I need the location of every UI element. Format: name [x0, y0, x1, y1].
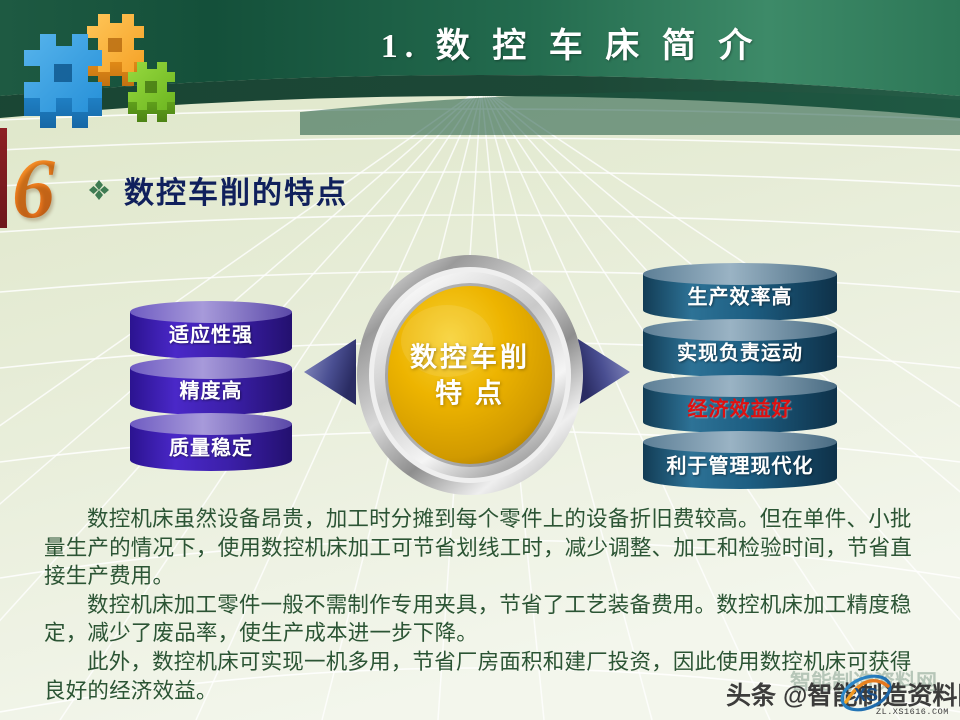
- watermark-url: ZL.XS1616.COM: [876, 707, 949, 717]
- left-cylinder-2[interactable]: 质量稳定: [128, 412, 294, 477]
- left-accent-bar: [0, 128, 7, 228]
- left-cylinder-0[interactable]: 适应性强: [128, 300, 294, 363]
- right-cylinder-0[interactable]: 生产效率高: [640, 262, 840, 325]
- section-number: 6: [12, 138, 55, 238]
- left-cylinder-stack: 适应性强: [128, 300, 294, 477]
- right-cylinder-2[interactable]: 经济效益好: [640, 374, 840, 437]
- gear-cluster-icon: [8, 2, 188, 152]
- subtitle-text: 数控车削的特点: [124, 168, 348, 212]
- section-number-badge: 6: [12, 152, 84, 230]
- body-paragraph-1: 数控机床加工零件一般不需制作专用夹具，节省了工艺装备费用。数控机床加工精度稳定，…: [44, 591, 924, 648]
- diamond-bullet-icon: [88, 179, 110, 201]
- body-paragraph-0: 数控机床虽然设备昂贵，加工时分摊到每个零件上的设备折旧费较高。但在单件、小批量生…: [44, 505, 924, 591]
- right-cylinder-3[interactable]: 利于管理现代化: [640, 430, 840, 495]
- left-cylinder-1[interactable]: 精度高: [128, 356, 294, 419]
- slide-canvas: 1. 数 控 车 床 简 介: [0, 0, 960, 720]
- watermark-logo: XS ZL.XS1616.COM: [838, 672, 960, 718]
- right-cylinder-1[interactable]: 实现负责运动: [640, 318, 840, 381]
- page-title: 1. 数 控 车 床 简 介: [360, 18, 780, 67]
- right-cylinder-stack: 生产效率高: [640, 262, 840, 495]
- center-oval[interactable]: 数控车削 特 点: [355, 253, 585, 498]
- subtitle-row: 数控车削的特点: [88, 168, 348, 212]
- watermark-logo-text: XS: [854, 685, 878, 705]
